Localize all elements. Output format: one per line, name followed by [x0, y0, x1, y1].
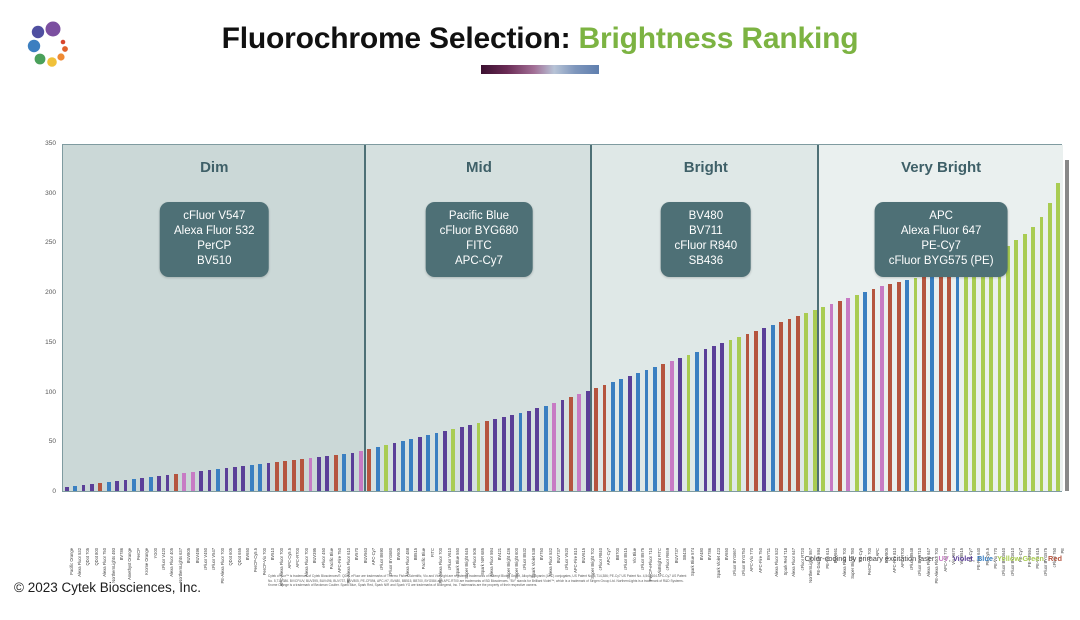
y-tick-label: 150: [30, 339, 56, 346]
panel-overlay: DimcFluor V547Alexa Fluor 532PerCPBV510: [63, 145, 366, 493]
x-tick-label: Alexa Fluor 405: [169, 548, 174, 577]
x-tick-label: cFluor V610: [447, 548, 452, 570]
x-tick-label: Amethyst Orange: [127, 548, 132, 580]
x-tick-label: APC-Cy7: [606, 548, 611, 565]
x-tick-label: Pacific Blue: [329, 548, 334, 569]
y-tick-label: 300: [30, 190, 56, 197]
legend-item-uv: UV: [938, 554, 948, 563]
x-tick-label: Alexa Fluor 594: [489, 548, 494, 577]
x-tick-label: cFluor BYG680: [388, 548, 393, 576]
panel-title: Very Bright: [819, 159, 1063, 176]
x-tick-label: Spark Blue 550: [455, 548, 460, 576]
x-tick-label: BUV496: [195, 548, 200, 563]
panel-fluorochrome-item: SB436: [675, 254, 738, 269]
panel-title: Mid: [366, 159, 593, 176]
x-tick-label: BB515: [413, 548, 418, 560]
page-title: Fluorochrome Selection: Brightness Ranki…: [0, 22, 1080, 56]
panel-title: Bright: [592, 159, 819, 176]
panel-fluorochrome-item: Pacific Blue: [440, 209, 519, 224]
x-tick-label: APC-Cy7: [371, 548, 376, 565]
x-tick-label: Pacific Blue: [421, 548, 426, 569]
x-tick-label: YG00: [153, 548, 158, 558]
trademark-footnote: Cytek cFluor™ is trademark of Cytek Bios…: [268, 574, 688, 588]
panel-fluorochrome-item: cFluor BYG575 (PE): [889, 254, 994, 269]
x-tick-label: eFluor 450: [321, 548, 326, 568]
x-tick-label: FITC: [430, 548, 435, 557]
y-tick-label: 50: [30, 438, 56, 445]
title-primary: Fluorochrome Selection:: [222, 22, 571, 55]
x-tick-label: BV750: [539, 548, 544, 560]
x-tick-label: Vio Blue: [632, 548, 637, 563]
x-tick-label: BUV737: [556, 548, 561, 563]
x-tick-label: Pacific Orange: [69, 548, 74, 575]
y-tick-label: 0: [30, 488, 56, 495]
legend-item-violet: Violet: [953, 554, 973, 563]
x-tick-label: BUV563: [363, 548, 368, 563]
x-tick-label: BUV615: [581, 548, 586, 563]
panel-fluorochrome-item: Alexa Fluor 532: [174, 224, 255, 239]
x-tick-label: PerCP-Cy5.5: [253, 548, 258, 572]
title-accent: Brightness Ranking: [570, 22, 858, 55]
x-tick-label: BV570: [354, 548, 359, 560]
x-tick-label: Spark Red 718: [783, 548, 788, 575]
x-tick-label: Alexa Fluor 750: [102, 548, 107, 577]
x-tick-label: Alexa Fluor 532: [774, 548, 779, 577]
panel-fluorochrome-item: Alexa Fluor 647: [889, 224, 994, 239]
x-tick-label: Alexa Fluor 532: [77, 548, 82, 577]
legend-prefix: Color-coding by primary excitation laser…: [805, 554, 937, 563]
x-tick-label: BV510: [270, 548, 275, 560]
x-tick-label: BUV395: [312, 548, 317, 563]
legend-item-red: Red: [1048, 554, 1062, 563]
copyright-text: © 2023 Cytek Biosciences, Inc.: [14, 580, 201, 595]
x-tick-label: cFluor R659: [665, 548, 670, 570]
x-tick-label: PE-Alexa Fluor 700: [220, 548, 225, 584]
x-tick-label: PerCP-Vio 700: [262, 548, 267, 575]
x-tick-label: BV605: [396, 548, 401, 560]
x-tick-label: cFluor BYG667: [732, 548, 737, 576]
x-tick-label: BV786: [707, 548, 712, 560]
y-tick-label: 100: [30, 389, 56, 396]
x-tick-label: cFluor V520: [564, 548, 569, 570]
panel-fluorochrome-list: BV480BV711cFluor R840SB436: [661, 202, 752, 277]
x-tick-label: Alexa Fluor 532: [548, 548, 553, 577]
x-tick-label: Alexa Fluor 488: [405, 548, 410, 577]
panel-fluorochrome-item: APC: [889, 209, 994, 224]
x-tick-label: VioBright FITC: [657, 548, 662, 575]
x-tick-label: QDot 705: [85, 548, 90, 566]
slide-root: Fluorochrome Selection: Brightness Ranki…: [0, 0, 1080, 620]
x-tick-label: APC-Vio 770: [749, 548, 754, 572]
panel-fluorochrome-list: APCAlexa Fluor 647PE-Cy7cFluor BYG575 (P…: [875, 202, 1008, 277]
x-tick-label: BUV737: [674, 548, 679, 563]
x-tick-label: BV650: [245, 548, 250, 560]
x-tick-label: BB700: [615, 548, 620, 560]
legend-item-yellow-green: Yellow-Green: [997, 554, 1044, 563]
x-tick-label: BUV805: [186, 548, 191, 563]
panel-title: Dim: [63, 159, 366, 176]
x-tick-label: Krome Orange: [144, 548, 149, 575]
panel-fluorochrome-item: FITC: [440, 239, 519, 254]
panel-fluorochrome-item: BV480: [675, 209, 738, 224]
x-tick-label: SB436: [682, 548, 687, 560]
y-tick-label: 350: [30, 140, 56, 147]
x-tick-label: NorthernLights 637: [178, 548, 183, 583]
panel-fluorochrome-item: BV711: [675, 224, 738, 239]
x-tick-label: Alexa Fluor 700: [304, 548, 309, 577]
x-tick-label: Spark Violet 423: [716, 548, 721, 578]
x-tick-label: APC-Cy5.5: [287, 548, 292, 568]
x-tick-label: BV480: [699, 548, 704, 560]
x-tick-label: cFluor B532: [522, 548, 527, 570]
legend-items: UV, Violet, Blue, Yellow-Green, Red: [938, 554, 1062, 563]
panel-fluorochrome-item: BV510: [174, 254, 255, 269]
x-tick-label: cFluor V547: [211, 548, 216, 570]
x-tick-label: cFluor B690: [379, 548, 384, 570]
x-tick-label: cFluor R840: [598, 548, 603, 570]
x-tick-label: BV711: [766, 548, 771, 560]
x-tick-label: NorthernLights 493: [111, 548, 116, 583]
x-tick-label: PE: [1060, 548, 1065, 553]
panel-fluorochrome-item: APC-Cy7: [440, 254, 519, 269]
panel-overlay: BrightBV480BV711cFluor R840SB436: [592, 145, 819, 493]
x-tick-label: cFluor V450: [203, 548, 208, 570]
x-tick-label: BV650: [724, 548, 729, 560]
x-axis-labels: Pacific OrangeAlexa Fluor 532QDot 705QDo…: [62, 492, 1062, 550]
x-tick-label: cFluor B515: [623, 548, 628, 570]
title-underline-bar: [481, 65, 599, 74]
x-tick-label: QDot 800: [94, 548, 99, 566]
x-tick-label: QDot 655: [237, 548, 242, 566]
panel-fluorochrome-list: Pacific BluecFluor BYG680FITCAPC-Cy7: [426, 202, 533, 277]
legend-item-blue: Blue: [977, 554, 993, 563]
panel-fluorochrome-item: PerCP: [174, 239, 255, 254]
x-tick-label: BV786: [119, 548, 124, 560]
panel-fluorochrome-item: PE-Cy7: [889, 239, 994, 254]
panel-fluorochrome-item: cFluor R840: [675, 239, 738, 254]
title-block: Fluorochrome Selection: Brightness Ranki…: [0, 22, 1080, 74]
x-tick-label: cFluor BYG750: [741, 548, 746, 576]
x-tick-label: BV421: [497, 548, 502, 560]
x-tick-label: Spark NIR 685: [480, 548, 485, 575]
x-tick-label: Alexa Fluor 647: [791, 548, 796, 577]
y-tick-label: 250: [30, 239, 56, 246]
x-tick-label: cFluor V420: [161, 548, 166, 570]
x-tick-label: eFluor 506: [472, 548, 477, 568]
x-tick-label: PerCP: [136, 548, 141, 560]
panel-overlay: Very BrightAPCAlexa Fluor 647PE-Cy7cFluo…: [819, 145, 1063, 493]
x-tick-label: Super Bright 780: [850, 548, 855, 579]
chart-plot-area: DimcFluor V547Alexa Fluor 532PerCPBV510M…: [62, 144, 1062, 492]
laser-color-legend: Color-coding by primary excitation laser…: [805, 554, 1062, 563]
x-tick-label: QDot 605: [228, 548, 233, 566]
x-tick-label: cFluor B575: [640, 548, 645, 570]
x-tick-label: APC-Fire 750: [337, 548, 342, 573]
bar: [1065, 160, 1069, 491]
y-tick-label: 200: [30, 289, 56, 296]
x-tick-label: APC-R700: [295, 548, 300, 568]
panel-fluorochrome-item: cFluor BYG680: [440, 224, 519, 239]
panel-fluorochrome-item: cFluor V547: [174, 209, 255, 224]
x-tick-label: APC-Fire 750: [758, 548, 763, 573]
x-tick-label: APC-Fire 810: [573, 548, 578, 573]
panel-overlay: MidPacific BluecFluor BYG680FITCAPC-Cy7: [366, 145, 593, 493]
x-tick-label: Spark Blue 574: [690, 548, 695, 576]
panel-fluorochrome-list: cFluor V547Alexa Fluor 532PerCPBV510: [160, 202, 269, 277]
